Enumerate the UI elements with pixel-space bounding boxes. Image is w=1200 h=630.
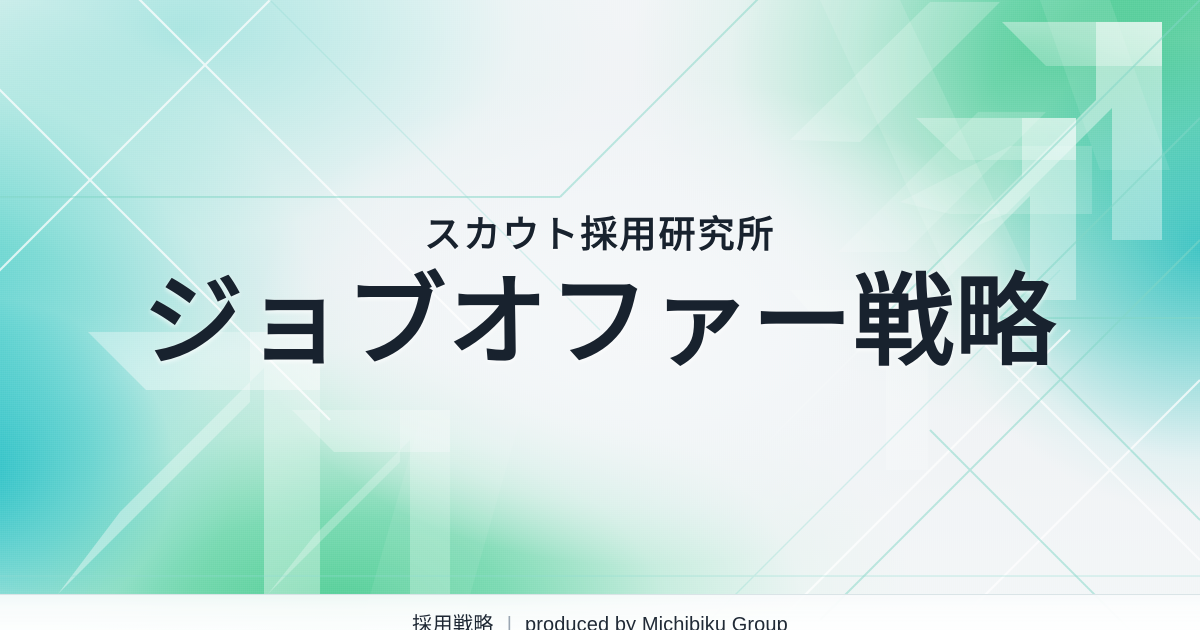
- footer-category-tag: 採用戦略: [412, 608, 494, 630]
- hero-eyebrow: スカウト採用研究所: [424, 215, 775, 256]
- footer-inner: 採用戦略 | produced by Michibiku Group: [412, 608, 788, 630]
- footer-credit: produced by Michibiku Group: [525, 614, 788, 630]
- footer-separator: |: [507, 615, 512, 630]
- hero-headline: ジョブオファー戦略: [143, 269, 1057, 375]
- og-title-card: スカウト採用研究所 ジョブオファー戦略 採用戦略 | produced by M…: [0, 0, 1200, 630]
- hero-content: スカウト採用研究所 ジョブオファー戦略: [0, 0, 1200, 630]
- footer-band: 採用戦略 | produced by Michibiku Group: [0, 594, 1200, 630]
